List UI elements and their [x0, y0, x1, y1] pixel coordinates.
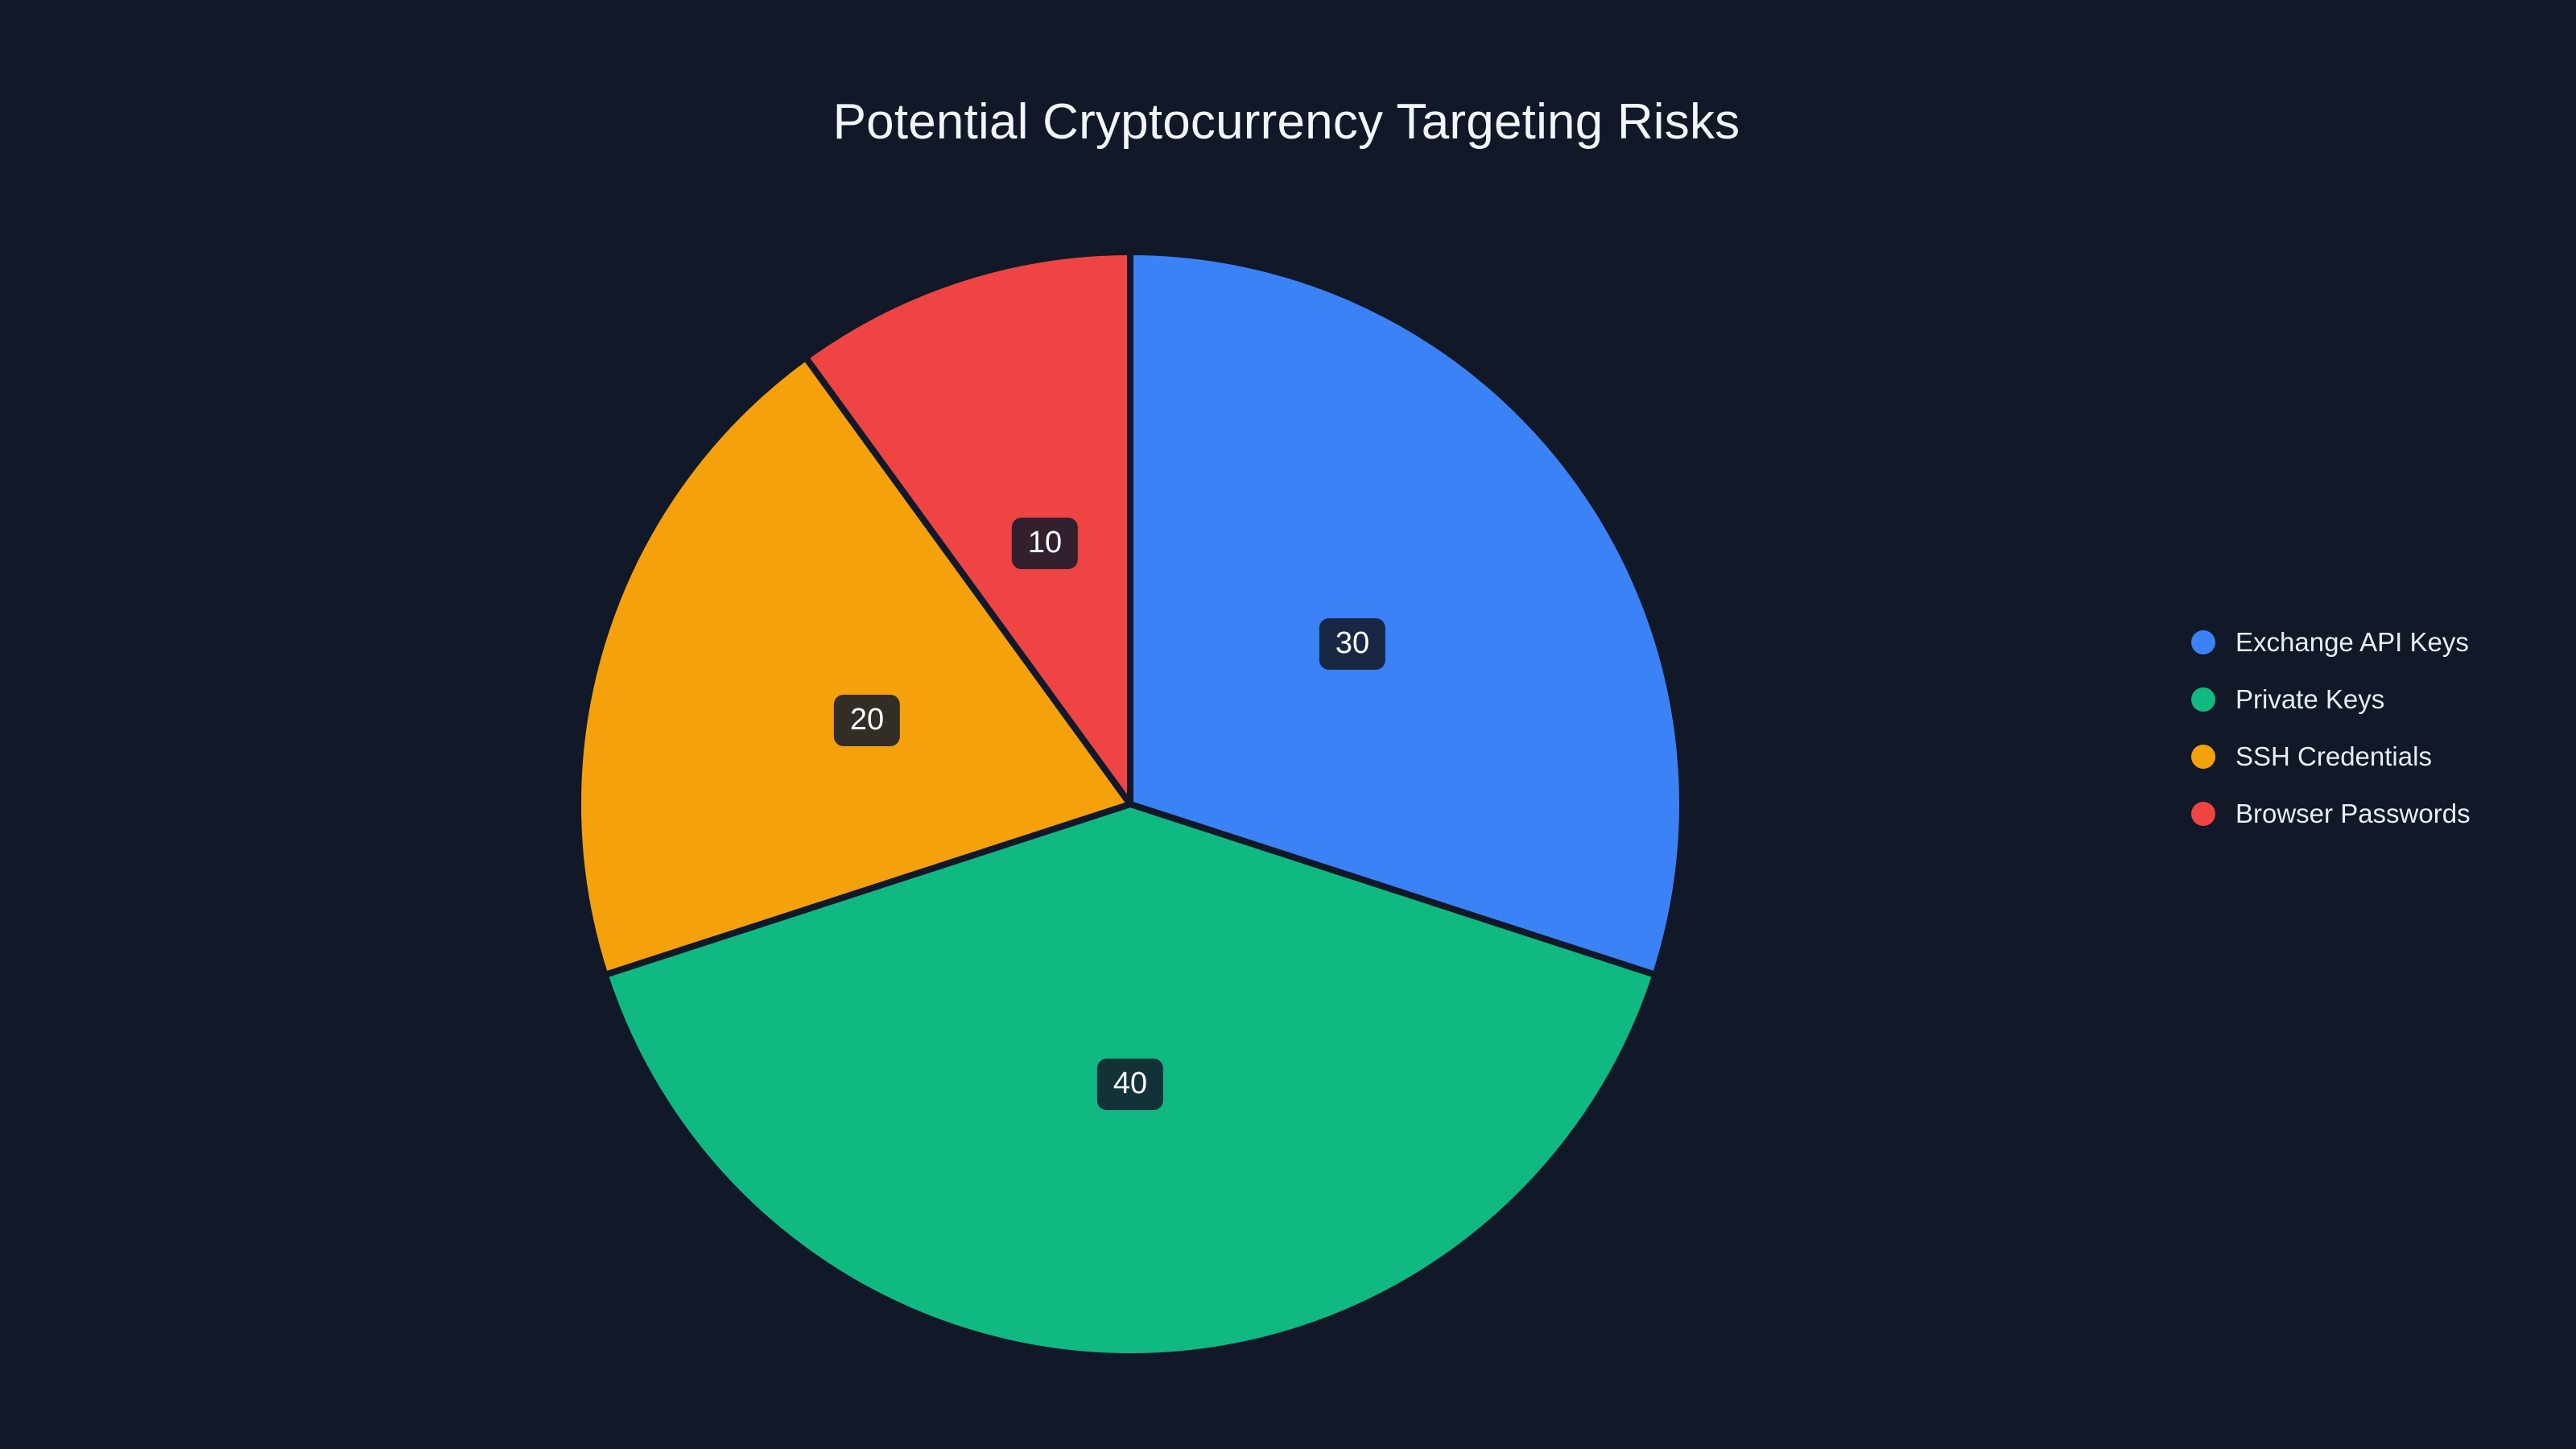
legend-item-label: SSH Credentials [2235, 743, 2432, 770]
chart-canvas: Potential Cryptocurrency Targeting Risks… [0, 0, 2576, 1449]
legend-item[interactable]: Browser Passwords [2191, 785, 2471, 842]
legend-item-label: Private Keys [2235, 686, 2384, 712]
legend-item[interactable]: SSH Credentials [2191, 728, 2471, 785]
legend-item-label: Browser Passwords [2235, 800, 2471, 827]
legend-item[interactable]: Private Keys [2191, 671, 2471, 728]
legend-item[interactable]: Exchange API Keys [2191, 613, 2471, 671]
pie-chart: 30402010 [0, 0, 2576, 1449]
pie-slice-value-label: 30 [1319, 618, 1385, 670]
legend: Exchange API KeysPrivate KeysSSH Credent… [2191, 613, 2471, 842]
pie-svg [0, 0, 2576, 1449]
pie-slice-value-label: 40 [1097, 1059, 1163, 1110]
pie-slices [578, 252, 1682, 1356]
legend-swatch-icon [2191, 630, 2215, 654]
pie-slice-value-label: 20 [834, 695, 900, 746]
legend-swatch-icon [2191, 687, 2215, 712]
legend-swatch-icon [2191, 802, 2215, 826]
pie-slice-value-label: 10 [1012, 518, 1078, 569]
legend-swatch-icon [2191, 745, 2215, 769]
legend-item-label: Exchange API Keys [2235, 629, 2469, 655]
